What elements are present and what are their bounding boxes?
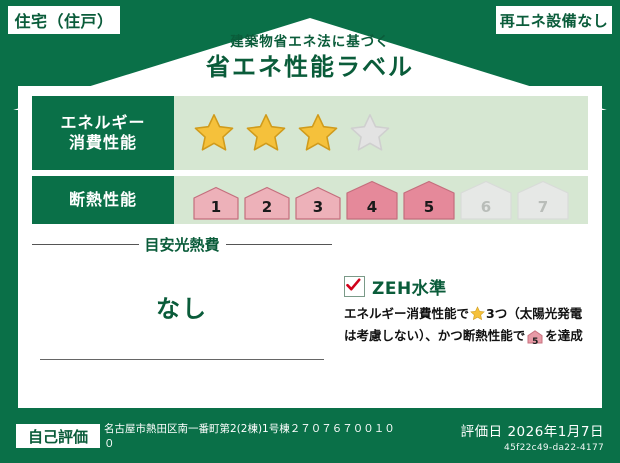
utility-cost-bottom-rule — [40, 359, 324, 360]
energy-label-line1: エネルギー — [60, 113, 145, 133]
star-filled-icon — [192, 112, 236, 154]
insulation-level-house-5: 5 — [402, 180, 456, 220]
energy-performance-label-box: エネルギー 消費性能 — [32, 96, 174, 170]
zeh-title: ZEH水準 — [372, 274, 447, 299]
insulation-level-number: 6 — [459, 198, 513, 216]
utility-cost-value: なし — [32, 289, 332, 324]
energy-performance-row: エネルギー 消費性能 — [32, 96, 588, 170]
evaluation-date-label: 評価日 — [461, 424, 503, 440]
energy-performance-label: 住宅（住戸） 再エネ設備なし 建築物省エネ法に基づく 省エネ性能ラベル エネルギ… — [0, 0, 620, 463]
insulation-performance-row: 断熱性能 1234567 — [32, 176, 588, 224]
insulation-level-scale: 1234567 — [192, 180, 570, 220]
utility-cost-section: 目安光熱費 なし — [32, 234, 332, 364]
star-empty-icon — [348, 112, 392, 154]
house-badge-number: 5 — [527, 336, 543, 350]
zeh-desc-part3: を達成 — [545, 328, 583, 343]
heading-rule-right — [226, 244, 333, 245]
zeh-checkbox — [344, 276, 365, 297]
star-filled-icon — [244, 112, 288, 154]
self-evaluation-tag: 自己評価 — [16, 424, 100, 448]
insulation-level-number: 1 — [192, 198, 240, 216]
insulation-level-house-6: 6 — [459, 180, 513, 220]
house-badge-icon: 5 — [527, 330, 543, 349]
insulation-level-number: 5 — [402, 198, 456, 216]
label-footer: 自己評価 名古屋市熱田区南一番町第2(2棟)1号棟２７０７６７００１００ 評価日… — [0, 408, 620, 463]
title-main: 省エネ性能ラベル — [0, 52, 620, 82]
dwelling-type-tag: 住宅（住戸） — [8, 6, 120, 34]
heading-rule-left — [32, 244, 139, 245]
insulation-label: 断熱性能 — [69, 190, 137, 210]
zeh-description: エネルギー消費性能で3つ（太陽光発電は考慮しない）、かつ断熱性能で5を達成 — [344, 304, 594, 350]
insulation-level-house-3: 3 — [294, 186, 342, 220]
insulation-level-number: 4 — [345, 198, 399, 216]
star-filled-icon — [296, 112, 340, 154]
insulation-performance-value: 1234567 — [174, 176, 588, 224]
title-subtitle: 建築物省エネ法に基づく — [0, 34, 620, 50]
star-icon — [470, 309, 485, 324]
renewable-equipment-tag: 再エネ設備なし — [496, 6, 612, 34]
insulation-level-house-2: 2 — [243, 186, 291, 220]
utility-cost-heading: 目安光熱費 — [145, 234, 220, 255]
evaluation-date-block: 評価日 2026年1月7日 45f22c49-da22-4177 — [461, 420, 604, 453]
check-icon — [346, 278, 361, 293]
utility-cost-heading-row: 目安光熱費 — [32, 234, 332, 255]
insulation-level-number: 7 — [516, 198, 570, 216]
property-address: 名古屋市熱田区南一番町第2(2棟)1号棟２７０７６７００１００ — [104, 422, 404, 452]
label-panel: エネルギー 消費性能 断熱性能 1234567 目安光熱費 なし — [18, 86, 602, 408]
insulation-level-house-7: 7 — [516, 180, 570, 220]
insulation-level-number: 3 — [294, 198, 342, 216]
star-rating — [192, 112, 392, 154]
insulation-performance-label-box: 断熱性能 — [32, 176, 174, 224]
evaluation-id: 45f22c49-da22-4177 — [461, 443, 604, 453]
zeh-heading-row: ZEH水準 — [344, 274, 594, 299]
evaluation-date-value: 2026年1月7日 — [507, 424, 604, 440]
insulation-level-number: 2 — [243, 198, 291, 216]
zeh-standard-block: ZEH水準 エネルギー消費性能で3つ（太陽光発電は考慮しない）、かつ断熱性能で5… — [344, 274, 594, 350]
energy-label-line2: 消費性能 — [69, 133, 137, 153]
insulation-level-house-1: 1 — [192, 186, 240, 220]
label-title: 建築物省エネ法に基づく 省エネ性能ラベル — [0, 34, 620, 82]
evaluation-date: 評価日 2026年1月7日 — [461, 420, 604, 440]
zeh-desc-part1: エネルギー消費性能で — [344, 306, 469, 321]
insulation-level-house-4: 4 — [345, 180, 399, 220]
energy-performance-value — [174, 96, 588, 170]
